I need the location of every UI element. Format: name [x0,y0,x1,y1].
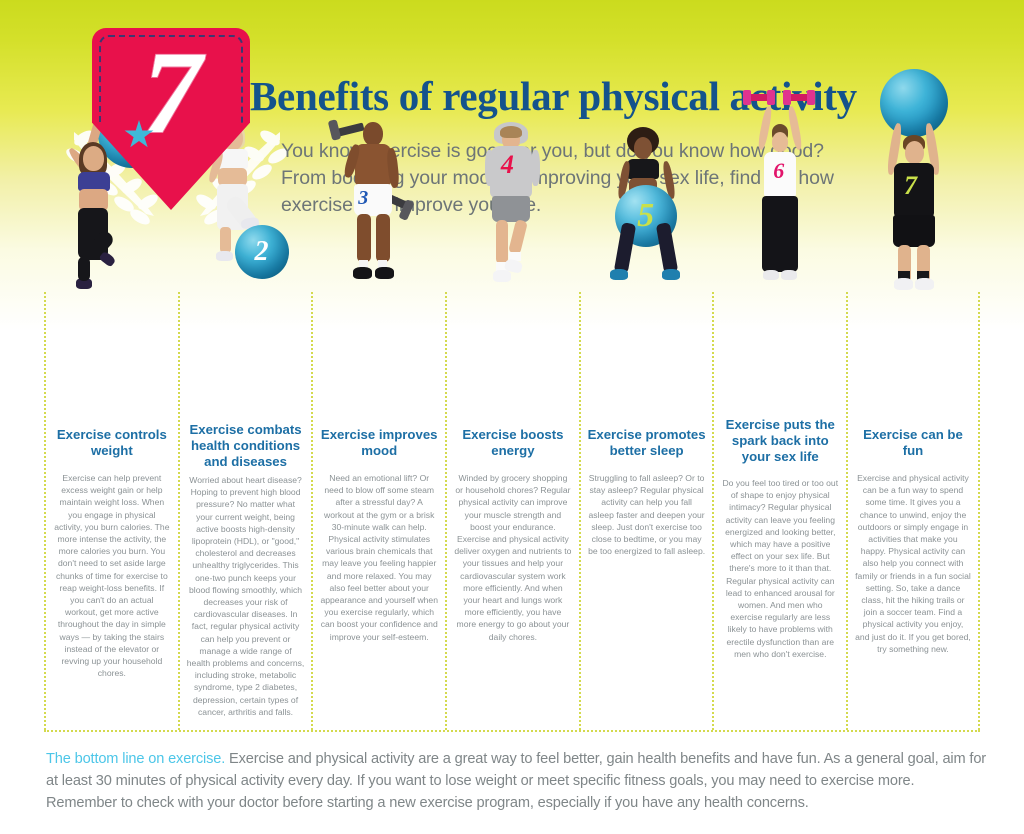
benefit-heading-7: Exercise can be fun [848,427,978,459]
benefit-body-5: Struggling to fall asleep? Or to stay as… [581,472,713,557]
benefit-heading-6: Exercise puts the spark back into your s… [714,417,846,465]
benefit-body-7: Exercise and physical activity can be a … [848,472,978,655]
benefit-column-2: 2 Exercise combats health conditions and… [178,292,312,730]
exercise-ball-2: 2 [235,225,289,279]
benefit-heading-3: Exercise improves mood [313,427,445,459]
benefit-column-1: 1 [44,292,178,730]
benefit-body-1: Exercise can help prevent excess weight … [46,472,178,679]
ball-number-2: 2 [255,236,269,268]
benefit-heading-2: Exercise combats health conditions and d… [180,422,312,470]
benefit-heading-1: Exercise controls weight [46,427,178,459]
benefit-body-4: Winded by grocery shopping or household … [447,472,579,643]
bottom-line-paragraph: The bottom line on exercise. Exercise an… [46,748,986,815]
badge-number: 7 [92,34,250,152]
shirt-number-7: 7 [904,173,917,199]
benefit-column-5: 5 Exercise promotes better sleep Struggl… [579,292,713,730]
exercise-ball-7 [880,69,948,137]
ball-number-5: 5 [637,197,654,235]
benefit-heading-5: Exercise promotes better sleep [581,427,713,459]
benefit-heading-4: Exercise boosts energy [447,427,579,459]
benefits-grid: 1 [44,292,980,732]
benefit-column-6: 6 Exercise puts the spark back into your… [712,292,846,730]
bottom-line-lead: The bottom line on exercise. [46,751,225,767]
benefit-column-7: 7 Exercise can be fun Exercise and physi… [846,292,980,730]
benefit-column-3: 3 Exercise improves mood Need an emotion… [311,292,445,730]
benefit-body-3: Need an emotional lift? Or need to blow … [313,472,445,643]
tank-number-6: 6 [773,160,784,182]
hoodie-number-4: 4 [501,152,514,178]
benefit-column-4: 4 Exercise boosts energy Winded by groce… [445,292,579,730]
infographic-poster: 7 Benefits of regular physical activity … [0,0,1024,834]
benefit-body-6: Do you feel too tired or too out of shap… [714,477,846,660]
shorts-number-3: 3 [358,188,368,208]
benefit-body-2: Worried about heart disease? Hoping to p… [180,474,312,718]
